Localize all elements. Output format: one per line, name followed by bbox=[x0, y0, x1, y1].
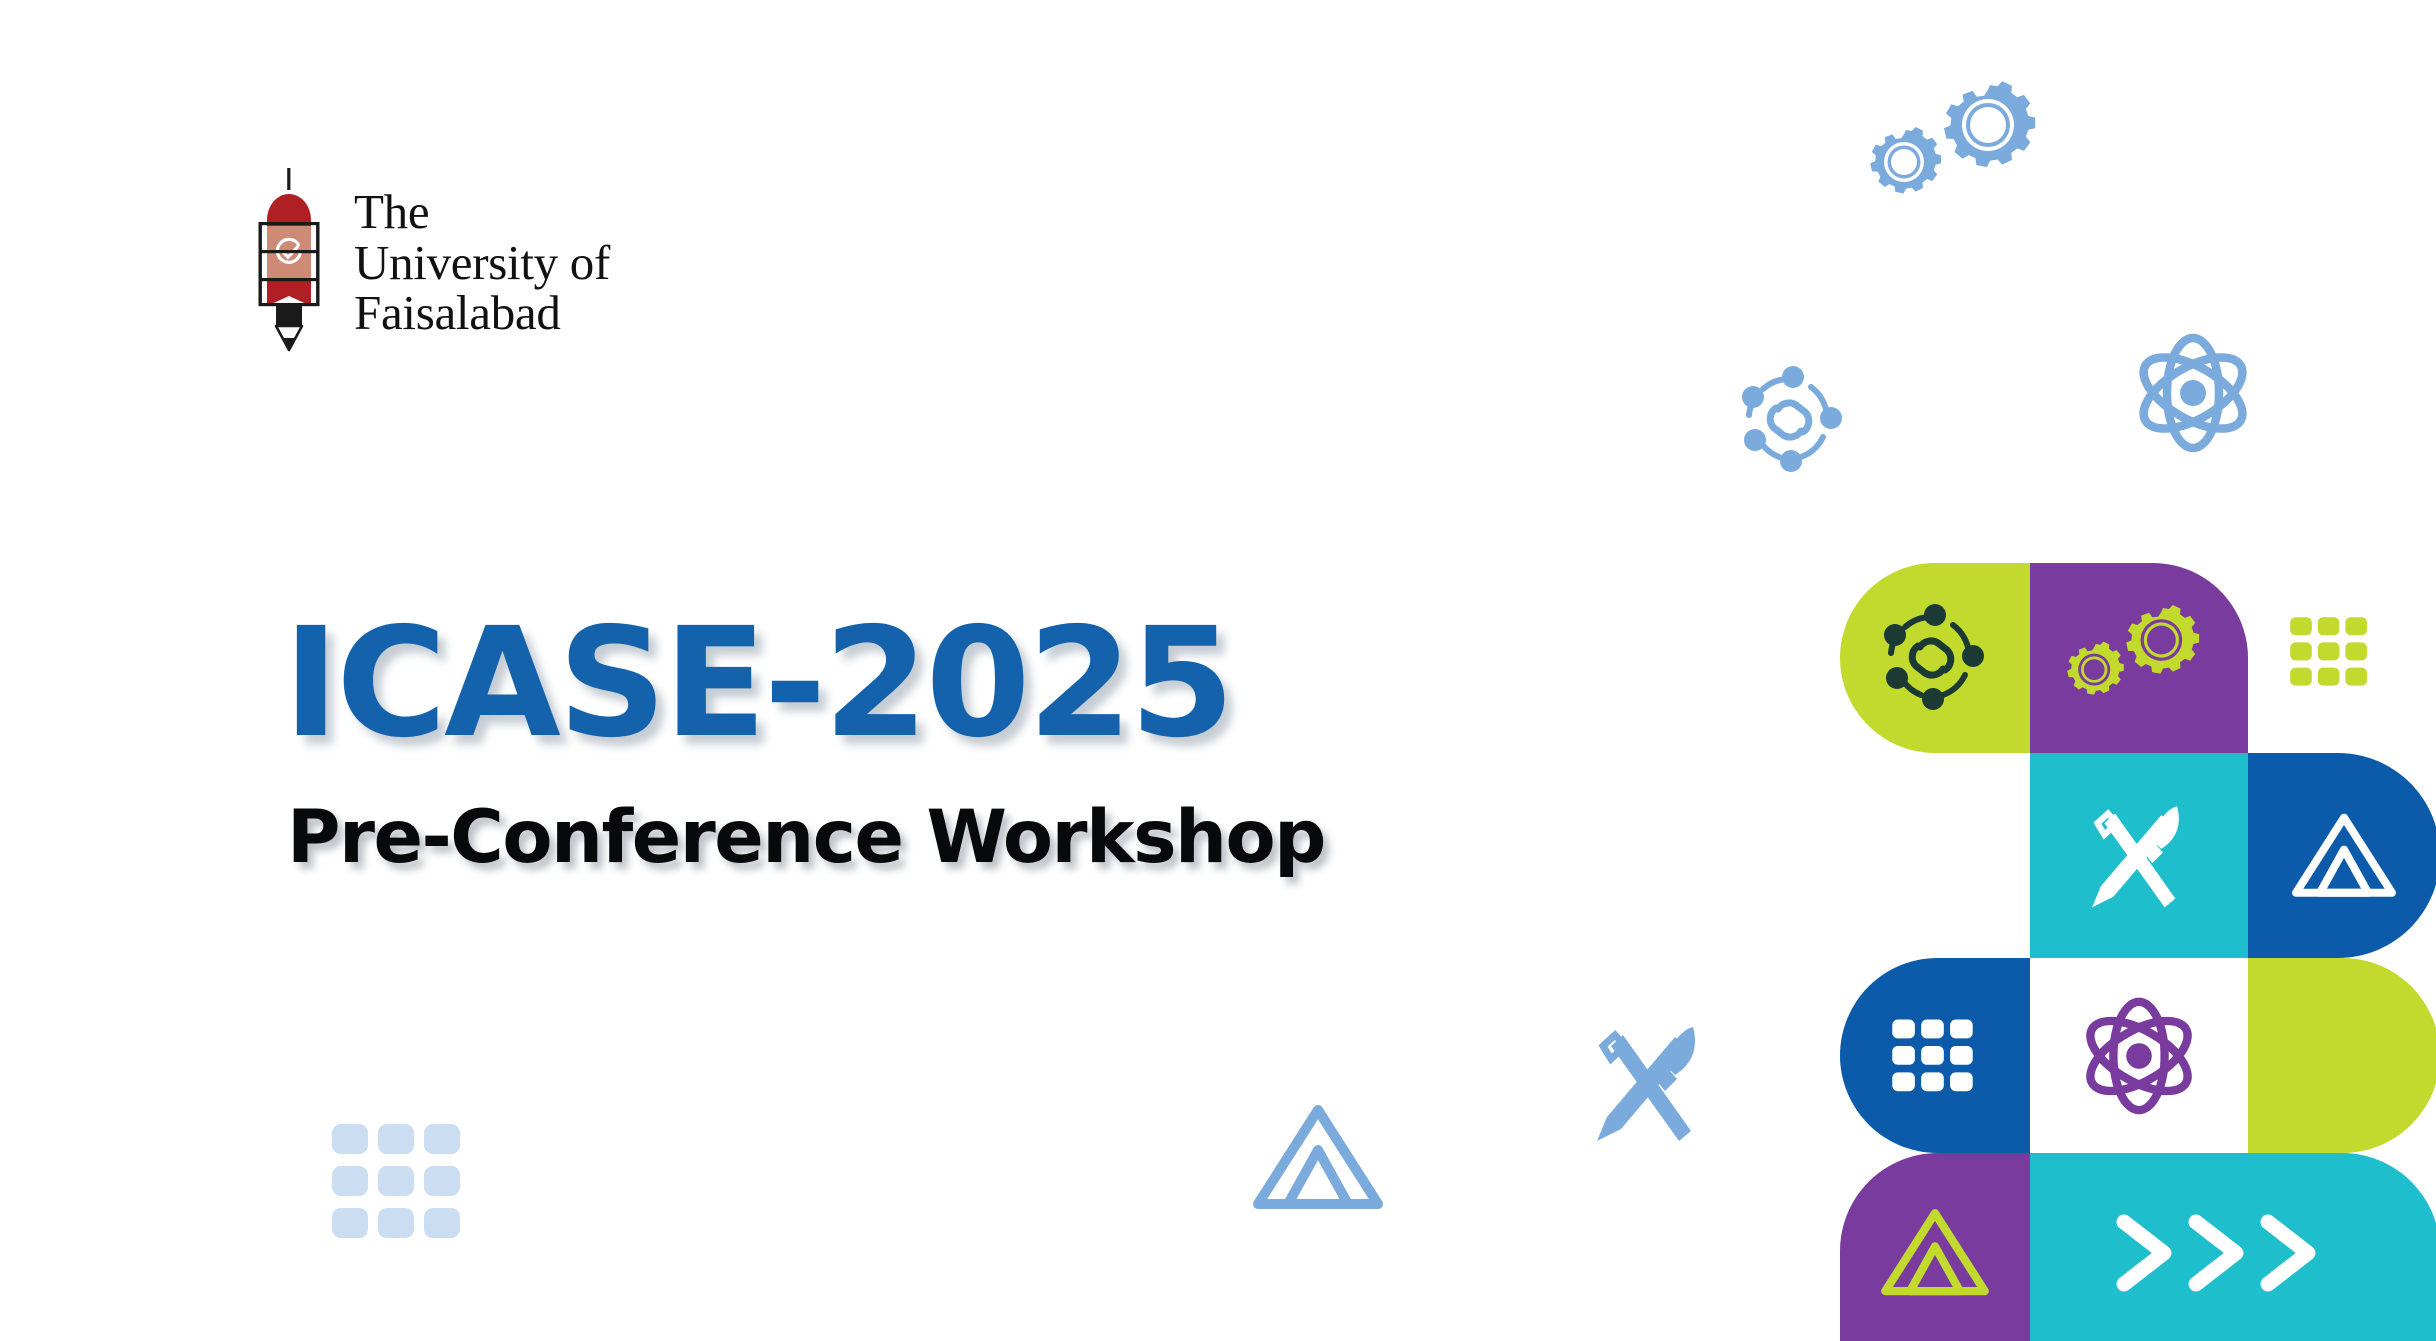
tile-triangle-blue bbox=[2248, 753, 2436, 958]
tile-lime-solid bbox=[2248, 958, 2436, 1153]
tile-atom bbox=[2030, 958, 2248, 1153]
tile-mosaic bbox=[1840, 563, 2436, 1341]
poster-canvas: The University of Faisalabad ICASE-2025 … bbox=[0, 0, 2436, 1341]
triangle-icon bbox=[1877, 1203, 1993, 1303]
grid-dots-icon bbox=[330, 1122, 470, 1242]
network-link-icon bbox=[1735, 365, 1851, 475]
logo-line-2: University of bbox=[354, 238, 610, 289]
tile-pencil-brush bbox=[2030, 753, 2248, 958]
university-logo: The University of Faisalabad bbox=[250, 168, 610, 358]
logo-line-1: The bbox=[354, 187, 610, 238]
network-link-icon bbox=[1877, 602, 1993, 714]
gears-icon bbox=[2059, 604, 2219, 712]
uof-tower-pencil-logo bbox=[250, 168, 328, 358]
atom-icon bbox=[2075, 992, 2203, 1120]
tile-grid-lime bbox=[2270, 591, 2392, 713]
tile-gears bbox=[2030, 563, 2248, 753]
event-subtitle: Pre-Conference Workshop bbox=[287, 801, 1325, 874]
gears-icon bbox=[1860, 80, 2060, 215]
pencil-brush-icon bbox=[2083, 794, 2195, 918]
university-wordmark: The University of Faisalabad bbox=[354, 187, 610, 340]
tile-chevrons bbox=[2030, 1153, 2436, 1341]
chevrons-icon bbox=[2110, 1210, 2360, 1296]
triangle-icon bbox=[2288, 808, 2400, 904]
triangle-icon bbox=[1248, 1098, 1388, 1218]
atom-icon bbox=[2128, 328, 2258, 458]
grid-dots-icon bbox=[1891, 1018, 1979, 1094]
tile-network bbox=[1840, 563, 2030, 753]
headline-block: ICASE-2025 Pre-Conference Workshop bbox=[283, 608, 1325, 874]
tile-triangle-lime bbox=[1840, 1153, 2030, 1341]
grid-dots-icon bbox=[2289, 616, 2373, 688]
tile-grid-white bbox=[1840, 958, 2030, 1153]
logo-line-3: Faisalabad bbox=[354, 288, 610, 339]
pencil-brush-icon bbox=[1587, 1013, 1713, 1153]
event-title: ICASE-2025 bbox=[283, 608, 1325, 759]
